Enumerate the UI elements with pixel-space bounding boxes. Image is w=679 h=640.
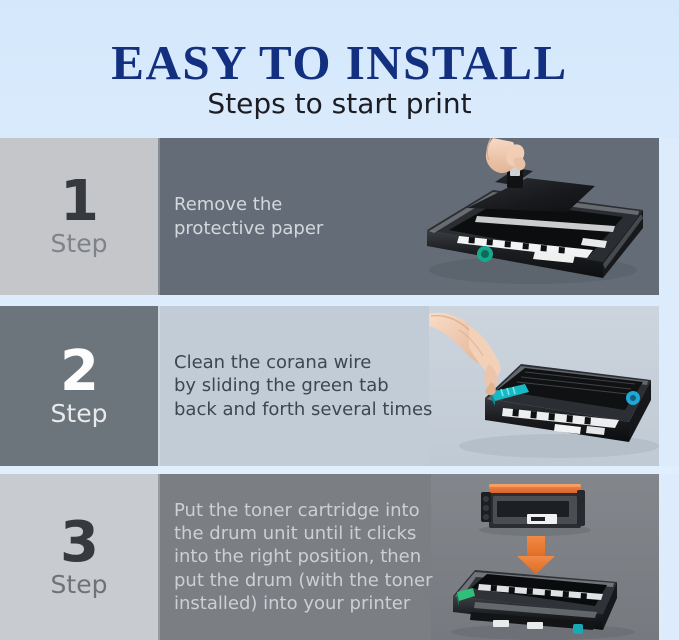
step-body-1: Remove the protective paper: [158, 138, 679, 295]
step-number-3: 3: [60, 516, 98, 569]
drum-unit-pull-protective-paper-image: [407, 138, 659, 295]
right-margin-2: [659, 306, 679, 466]
step-body-3: Put the toner cartridge into the drum un…: [158, 474, 679, 640]
drum-unit-slide-green-tab-image: [429, 306, 679, 466]
step-text-1: Remove the protective paper: [158, 193, 323, 239]
step-row-2: 2 Step: [0, 306, 679, 466]
step-number-1: 1: [60, 175, 98, 228]
divider-3: [158, 474, 160, 640]
step-badge-3: 3 Step: [0, 474, 158, 640]
step-label-3: Step: [51, 571, 108, 599]
step-body-2: Clean the corana wire by sliding the gre…: [158, 306, 679, 466]
step-text-2: Clean the corana wire by sliding the gre…: [158, 351, 432, 420]
step-badge-1: 1 Step: [0, 138, 158, 295]
step-badge-2: 2 Step: [0, 306, 158, 466]
step-text-3: Put the toner cartridge into the drum un…: [158, 499, 433, 614]
right-margin-3: [659, 474, 679, 640]
page-subtitle: Steps to start print: [0, 90, 679, 118]
install-instructions-page: EASY TO INSTALL Steps to start print 1 S…: [0, 0, 679, 640]
header: EASY TO INSTALL Steps to start print: [0, 0, 679, 133]
step-row-1: 1 Step: [0, 138, 679, 295]
toner-cartridge-into-drum-unit-image: [431, 474, 659, 640]
divider-1: [158, 138, 160, 295]
divider-2: [158, 306, 160, 466]
page-title: EASY TO INSTALL: [0, 38, 679, 87]
step-label-1: Step: [51, 230, 108, 258]
step-number-2: 2: [60, 345, 98, 398]
step-row-3: 3 Step: [0, 474, 679, 640]
step-label-2: Step: [51, 400, 108, 428]
